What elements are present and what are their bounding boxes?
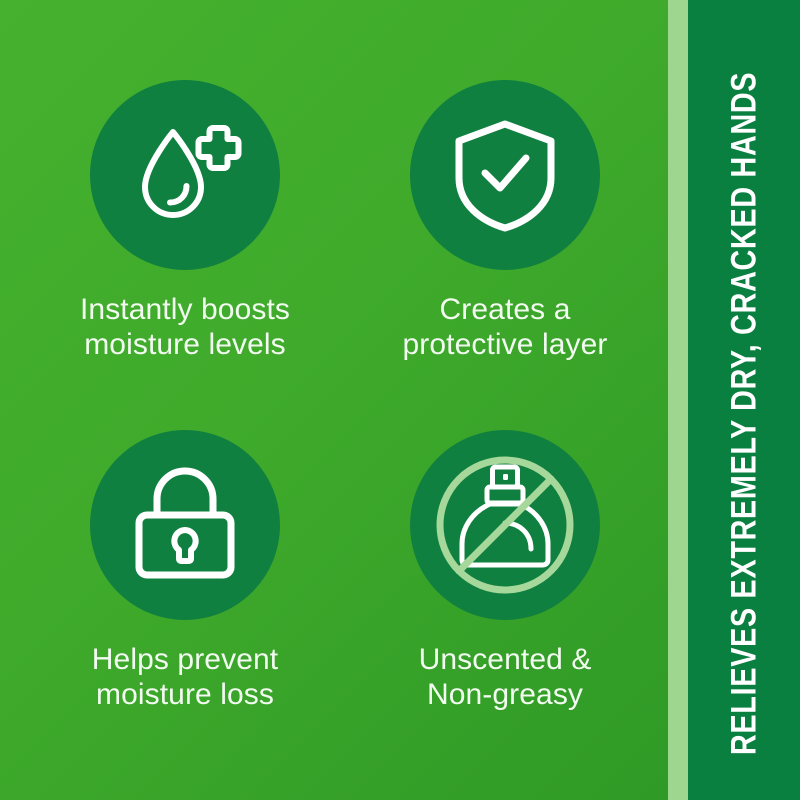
benefit-item-unscented-non-greasy: Unscented & Non-greasy [355, 430, 655, 712]
accent-stripe [668, 0, 688, 800]
benefit-icon-circle [410, 80, 600, 270]
benefit-caption: Unscented & Non-greasy [355, 642, 655, 712]
side-banner-text: RELIEVES EXTREMELY DRY, CRACKED HANDS [727, 0, 762, 755]
shield-check-icon [449, 116, 561, 234]
benefit-caption-line-2: Non-greasy [355, 677, 655, 712]
padlock-icon [129, 467, 241, 583]
benefit-icon-circle [90, 430, 280, 620]
benefit-item-creates-a-protective-layer: Creates a protective layer [355, 80, 655, 362]
benefit-caption-line-2: moisture loss [35, 677, 335, 712]
benefit-icon-circle [90, 80, 280, 270]
benefit-icon-circle [410, 430, 600, 620]
benefit-caption-line-1: Helps prevent [35, 642, 335, 677]
benefits-grid: Instantly boosts moisture levels Creates… [0, 0, 668, 800]
benefits-infographic: Instantly boosts moisture levels Creates… [0, 0, 800, 800]
benefit-caption-line-1: Instantly boosts [35, 292, 335, 327]
water-drop-plus-icon [126, 116, 244, 234]
benefit-item-helps-prevent-moisture-loss: Helps prevent moisture loss [35, 430, 335, 712]
side-banner-text-inner: RELIEVES EXTREMELY DRY, CRACKED HANDS [727, 72, 762, 755]
benefit-caption-line-1: Creates a [355, 292, 655, 327]
benefit-caption-line-2: protective layer [355, 327, 655, 362]
no-fragrance-bottle-icon [430, 450, 580, 600]
benefit-caption: Creates a protective layer [355, 292, 655, 362]
benefit-caption-line-2: moisture levels [35, 327, 335, 362]
benefit-caption: Instantly boosts moisture levels [35, 292, 335, 362]
benefit-caption-line-1: Unscented & [355, 642, 655, 677]
benefit-item-instantly-boosts-moisture-levels: Instantly boosts moisture levels [35, 80, 335, 362]
benefit-caption: Helps prevent moisture loss [35, 642, 335, 712]
side-banner: RELIEVES EXTREMELY DRY, CRACKED HANDS [688, 0, 800, 800]
